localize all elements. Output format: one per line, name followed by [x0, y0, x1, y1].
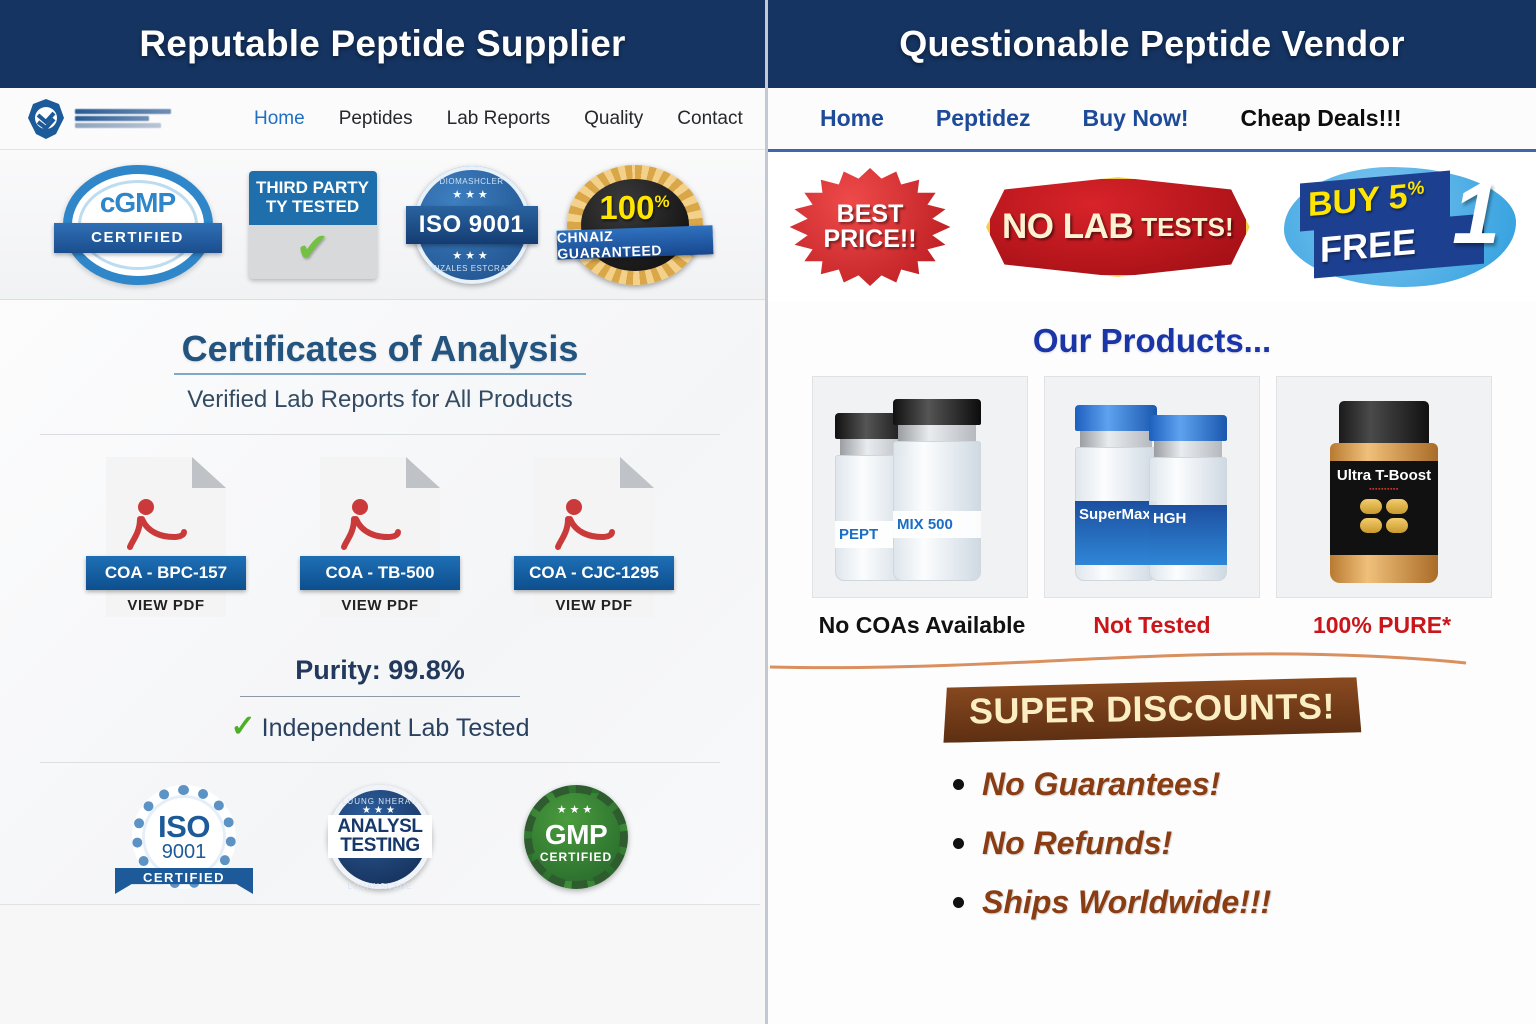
guarantee-ribbon-text: CHNAIZ GUARANTEED: [556, 225, 713, 259]
bullet-dot-icon: [953, 779, 964, 790]
list-item: No Guarantees!: [953, 766, 1536, 803]
buy51-line-1: BUY 5: [1308, 177, 1408, 224]
shield-checkmark-icon: [26, 98, 66, 140]
tpt-line-1: THIRD PARTY: [256, 178, 369, 197]
coa-band-label: COA - CJC-1295: [514, 556, 674, 590]
iso-9001-badge: DIOMASHCLER ★★★ ISO 9001 ★★★ BSIZALES ES…: [413, 166, 531, 284]
buy-5-free-1-badge: 1 BUY 5% FREE: [1284, 167, 1516, 287]
pdf-acrobat-icon: [340, 497, 410, 551]
view-pdf-button[interactable]: VIEW PDF: [520, 597, 668, 614]
buy51-big-one: 1: [1452, 171, 1500, 257]
buy51-line-2: FREE: [1320, 221, 1416, 271]
left-navigation-bar[interactable]: Home Peptides Lab Reports Quality Contac…: [0, 88, 765, 150]
right-navigation-bar[interactable]: Home Peptidez Buy Now! Cheap Deals!!!: [768, 88, 1536, 152]
iso-badge-microtext-bottom: BSIZALES ESTCRATH: [413, 264, 531, 273]
nav-link-lab-reports[interactable]: Lab Reports: [447, 108, 551, 130]
divider-bottom: [40, 762, 720, 763]
questionable-vendor-panel: Questionable Peptide Vendor Home Peptide…: [768, 0, 1536, 1024]
coa-document-bpc-157[interactable]: COA - BPC-157 VIEW PDF: [92, 457, 240, 625]
gmp-seal-stars: ★★★: [511, 803, 641, 816]
cgmp-badge-label: cGMP: [63, 187, 213, 219]
supplement-bottle: Ultra T-Boost ▪▪▪▪▪▪▪▪▪▪: [1330, 401, 1438, 583]
bottle-label-title: Ultra T-Boost: [1337, 467, 1431, 484]
super-discounts-banner: SUPER DISCOUNTS!: [943, 677, 1362, 743]
best-price-line-1: BEST: [837, 200, 904, 228]
bullet-dot-icon: [953, 838, 964, 849]
independent-lab-label: Independent Lab Tested: [262, 714, 530, 742]
trust-badge-strip: cGMP CERTIFIED THIRD PARTY TY TESTED ✔ D…: [0, 150, 765, 300]
view-pdf-button[interactable]: VIEW PDF: [306, 597, 454, 614]
claim-no-guarantees: No Guarantees!: [982, 766, 1220, 803]
best-price-line-2: PRICE!!: [823, 225, 916, 253]
product-caption-row: No COAs Available Not Tested 100% PURE*: [768, 612, 1536, 639]
buy51-percent: %: [1407, 178, 1424, 200]
vial-label-supermax: SuperMax: [1075, 501, 1157, 565]
coa-content-card: Certificates of Analysis Verified Lab Re…: [0, 300, 760, 905]
nav-link-quality[interactable]: Quality: [584, 108, 643, 130]
guarantee-percent-number: 100: [599, 189, 654, 226]
nav-link-buy-now[interactable]: Buy Now!: [1082, 105, 1188, 132]
iso-seal-banner: CERTIFIED: [115, 868, 253, 894]
product-card-row[interactable]: PEPT MIX 500 SuperMax HGH: [768, 376, 1536, 598]
claim-no-refunds: No Refunds!: [982, 825, 1172, 862]
tpt-line-2: TY TESTED: [266, 197, 359, 216]
pdf-acrobat-icon: [126, 497, 196, 551]
caption-100-pure: 100% PURE*: [1274, 612, 1490, 639]
no-lab-tests-banner: NO LAB TESTS!: [986, 175, 1250, 279]
promo-badge-strip: BEST PRICE!! NO LAB TESTS! 1 BUY 5% FREE: [768, 152, 1536, 302]
nav-link-cheap-deals[interactable]: Cheap Deals!!!: [1241, 105, 1402, 132]
divider-top: [40, 434, 720, 435]
vial-label-hgh: HGH: [1149, 505, 1227, 565]
iso-badge-stars-bottom: ★★★: [413, 249, 531, 262]
decorative-swoosh: [768, 649, 1468, 671]
check-icon: ✓: [231, 710, 256, 743]
purity-block: Purity: 99.8% ✓Independent Lab Tested: [0, 655, 760, 744]
purity-value: Purity: 99.8%: [0, 655, 760, 686]
right-page-title: Questionable Peptide Vendor: [899, 23, 1405, 65]
nav-link-home[interactable]: Home: [820, 105, 884, 132]
gmp-seal-subtitle: CERTIFIED: [511, 850, 641, 864]
bullet-dot-icon: [953, 897, 964, 908]
100-percent-guarantee-badge: 100% CHNAIZ GUARANTEED: [567, 165, 703, 285]
coa-band-label: COA - BPC-157: [86, 556, 246, 590]
analyst-seal-line-1: ANALYSL: [328, 817, 432, 836]
coa-section-subtitle: Verified Lab Reports for All Products: [0, 386, 760, 414]
certification-seal-row: ISO 9001 CERTIFIED LUUNG NHERAU ★★★ ANAL…: [0, 785, 760, 903]
analyst-testing-seal: LUUNG NHERAU ★★★ ANALYSL TESTING LOUAHSC…: [315, 785, 445, 903]
view-pdf-button[interactable]: VIEW PDF: [92, 597, 240, 614]
tests-text: TESTS!: [1141, 212, 1233, 243]
green-check-icon: ✔: [249, 225, 377, 271]
no-lab-text: NO LAB: [1002, 207, 1133, 247]
comparison-stage: Reputable Peptide Supplier Home Peptides…: [0, 0, 1536, 1024]
claim-ships-worldwide: Ships Worldwide!!!: [982, 884, 1271, 921]
nav-link-peptidez[interactable]: Peptidez: [936, 105, 1031, 132]
nav-link-peptides[interactable]: Peptides: [339, 108, 413, 130]
independent-lab-tested: ✓Independent Lab Tested: [0, 709, 760, 744]
pdf-acrobat-icon: [554, 497, 624, 551]
divider-purity: [240, 696, 520, 697]
cgmp-badge-ribbon: CERTIFIED: [54, 223, 222, 253]
iso-badge-stars-top: ★★★: [413, 188, 531, 201]
left-header-bar: Reputable Peptide Supplier: [0, 0, 765, 88]
iso-badge-label: ISO 9001: [406, 206, 538, 244]
nav-link-contact[interactable]: Contact: [677, 108, 742, 130]
vial-back: HGH: [1149, 415, 1227, 581]
cgmp-certified-badge: cGMP CERTIFIED: [63, 165, 213, 285]
analyst-seal-line-2: TESTING: [328, 836, 432, 855]
vial-front: SuperMax: [1075, 405, 1157, 581]
coa-document-cjc-1295[interactable]: COA - CJC-1295 VIEW PDF: [520, 457, 668, 625]
gmp-certified-seal: ★★★ GMP CERTIFIED: [511, 785, 641, 903]
super-discounts-wrap: SUPER DISCOUNTS!: [768, 680, 1536, 740]
right-header-bar: Questionable Peptide Vendor: [768, 0, 1536, 88]
reputable-supplier-panel: Reputable Peptide Supplier Home Peptides…: [0, 0, 768, 1024]
logo-wordmark-blurred: [75, 109, 171, 128]
caption-no-coas: No COAs Available: [814, 612, 1030, 639]
iso-seal-number: 9001: [119, 841, 249, 864]
left-page-title: Reputable Peptide Supplier: [139, 23, 625, 65]
our-products-title: Our Products...: [768, 322, 1536, 360]
coa-document-row[interactable]: COA - BPC-157 VIEW PDF COA - TB-500 VIEW…: [0, 457, 760, 625]
iso-9001-certified-seal: ISO 9001 CERTIFIED: [119, 785, 249, 903]
iso-seal-title: ISO: [119, 809, 249, 845]
third-party-tested-badge: THIRD PARTY TY TESTED ✔: [249, 171, 377, 279]
left-nav-links[interactable]: Home Peptides Lab Reports Quality Contac…: [254, 108, 743, 130]
iso-badge-microtext-top: DIOMASHCLER: [413, 177, 531, 186]
vial-front: MIX 500: [893, 399, 981, 581]
caption-not-tested: Not Tested: [1044, 612, 1260, 639]
list-item: Ships Worldwide!!!: [953, 884, 1536, 921]
analyst-seal-arc-bottom: LOUAHSCSUE: [315, 882, 445, 891]
logo[interactable]: [26, 98, 236, 140]
best-price-burst-badge: BEST PRICE!!: [788, 168, 952, 286]
coa-band-label: COA - TB-500: [300, 556, 460, 590]
gmp-seal-title: GMP: [511, 819, 641, 851]
product-card-ultra-t-boost[interactable]: Ultra T-Boost ▪▪▪▪▪▪▪▪▪▪: [1276, 376, 1492, 598]
product-card-peptide-mix-500[interactable]: PEPT MIX 500: [812, 376, 1028, 598]
nav-link-home[interactable]: Home: [254, 108, 305, 130]
coa-document-tb-500[interactable]: COA - TB-500 VIEW PDF: [306, 457, 454, 625]
product-card-supermax-hgh[interactable]: SuperMax HGH: [1044, 376, 1260, 598]
guarantee-percent-sign: %: [654, 192, 669, 211]
list-item: No Refunds!: [953, 825, 1536, 862]
coa-section-title: Certificates of Analysis: [0, 328, 760, 370]
vial-label-mix-500: MIX 500: [893, 511, 981, 538]
vendor-claims-list: No Guarantees! No Refunds! Ships Worldwi…: [953, 766, 1536, 921]
